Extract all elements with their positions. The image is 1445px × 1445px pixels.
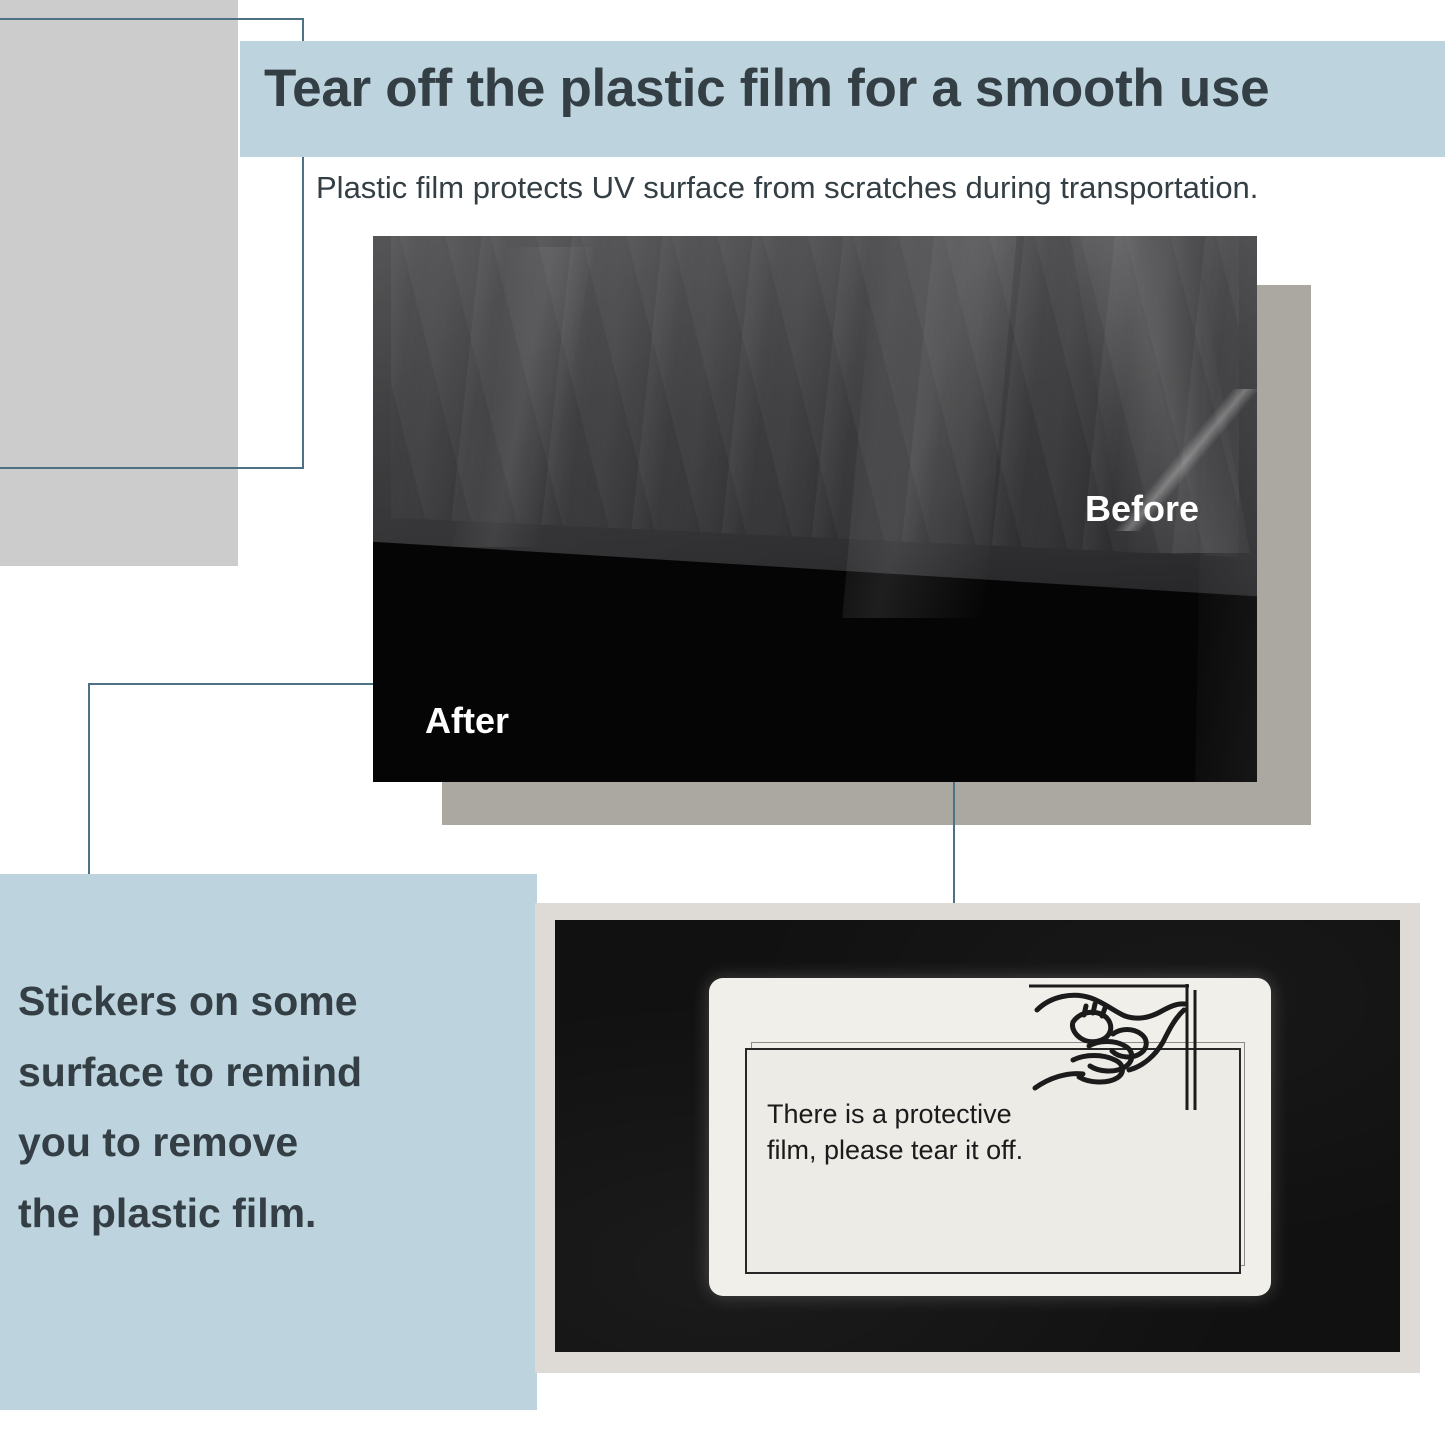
- bottom-copy-paragraph: Stickers on some surface to remind you t…: [18, 966, 528, 1248]
- label-before: Before: [1085, 488, 1199, 530]
- page-subtitle: Plastic film protects UV surface from sc…: [316, 171, 1436, 205]
- warning-sticker: There is a protective film, please tear …: [709, 978, 1271, 1296]
- bottom-copy-line-4: the plastic film.: [18, 1178, 528, 1249]
- decorative-connector-line: [953, 781, 955, 905]
- before-after-photo: Before After: [373, 236, 1257, 782]
- sticker-text-line-2: film, please tear it off.: [767, 1132, 1127, 1168]
- sticker-warning-text: There is a protective film, please tear …: [767, 1096, 1127, 1168]
- infographic-canvas: Tear off the plastic film for a smooth u…: [0, 0, 1445, 1445]
- bottom-copy-line-1: Stickers on some: [18, 966, 528, 1037]
- label-after: After: [425, 700, 509, 742]
- sticker-photo: There is a protective film, please tear …: [535, 903, 1420, 1373]
- bottom-copy-line-2: surface to remind: [18, 1037, 528, 1108]
- sticker-photo-black-background: There is a protective film, please tear …: [555, 920, 1400, 1352]
- page-title: Tear off the plastic film for a smooth u…: [264, 62, 1429, 115]
- bottom-copy-line-3: you to remove: [18, 1107, 528, 1178]
- sticker-text-line-1: There is a protective: [767, 1096, 1127, 1132]
